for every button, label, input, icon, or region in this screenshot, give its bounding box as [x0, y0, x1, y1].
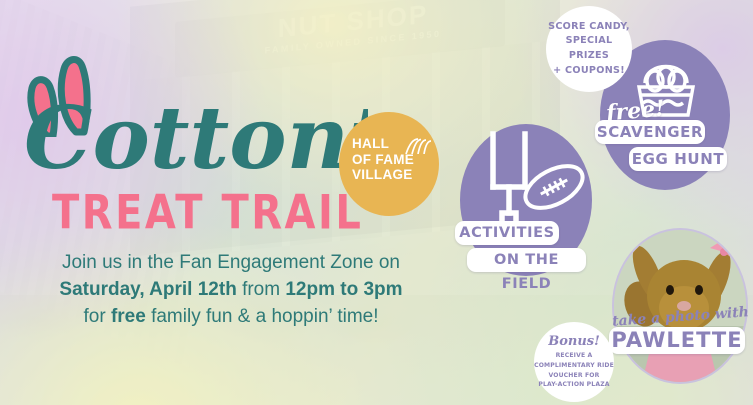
score-line-3: + COUPONS! — [553, 64, 625, 79]
football-icon — [521, 161, 587, 213]
bonus-body: RECEIVE A COMPLIMENTARY RIDE VOUCHER FOR… — [534, 351, 614, 390]
details-line-3: for free family fun & a hoppin’ time! — [16, 304, 446, 331]
score-line-1: SCORE CANDY, — [548, 20, 630, 35]
details-line-1: Join us in the Fan Engagement Zone on — [16, 250, 446, 277]
bonus-badge: Bonus! RECEIVE A COMPLIMENTARY RIDE VOUC… — [534, 322, 614, 402]
bonus-line-2: COMPLIMENTARY RIDE — [534, 361, 614, 371]
details-line-2: Saturday, April 12th from 12pm to 3pm — [16, 277, 446, 304]
page-title-script: Cottontail — [18, 86, 368, 194]
logo-line-3: VILLAGE — [352, 167, 428, 183]
bonus-title: Bonus! — [548, 334, 600, 349]
arch-icon — [404, 138, 434, 154]
egg-hunt-label-2: EGG HUNT — [629, 147, 727, 171]
details-for: for — [84, 306, 111, 327]
details-time: 12pm to 3pm — [285, 279, 402, 300]
details-tail: family fun & a hoppin’ time! — [146, 306, 379, 327]
details-free: free — [111, 306, 146, 327]
bonus-line-1: RECEIVE A — [534, 351, 614, 361]
activities-label-2: ON THE FIELD — [467, 248, 586, 272]
event-details-text: Join us in the Fan Engagement Zone on Sa… — [16, 250, 446, 331]
bonus-line-3: VOUCHER FOR — [534, 371, 614, 381]
title-script-text: Cottontail — [24, 88, 368, 189]
details-date: Saturday, April 12th — [59, 279, 236, 300]
page-title-block: TREAT TRAIL — [52, 186, 363, 240]
promotional-poster: NUT SHOP FAMILY OWNED SINCE 1950 Cottont… — [0, 0, 753, 405]
logo-line-2: OF FAME — [352, 152, 428, 168]
egg-hunt-label-1: SCAVENGER — [595, 120, 705, 144]
bonus-line-4: PLAY-ACTION PLAZA — [534, 380, 614, 390]
pawlette-label: PAWLETTE — [609, 327, 745, 354]
score-line-2: SPECIAL PRIZES — [546, 34, 632, 63]
details-from: from — [237, 279, 286, 300]
score-candy-badge: SCORE CANDY, SPECIAL PRIZES + COUPONS! — [546, 6, 632, 92]
activities-label-1: ACTIVITIES — [455, 221, 559, 245]
